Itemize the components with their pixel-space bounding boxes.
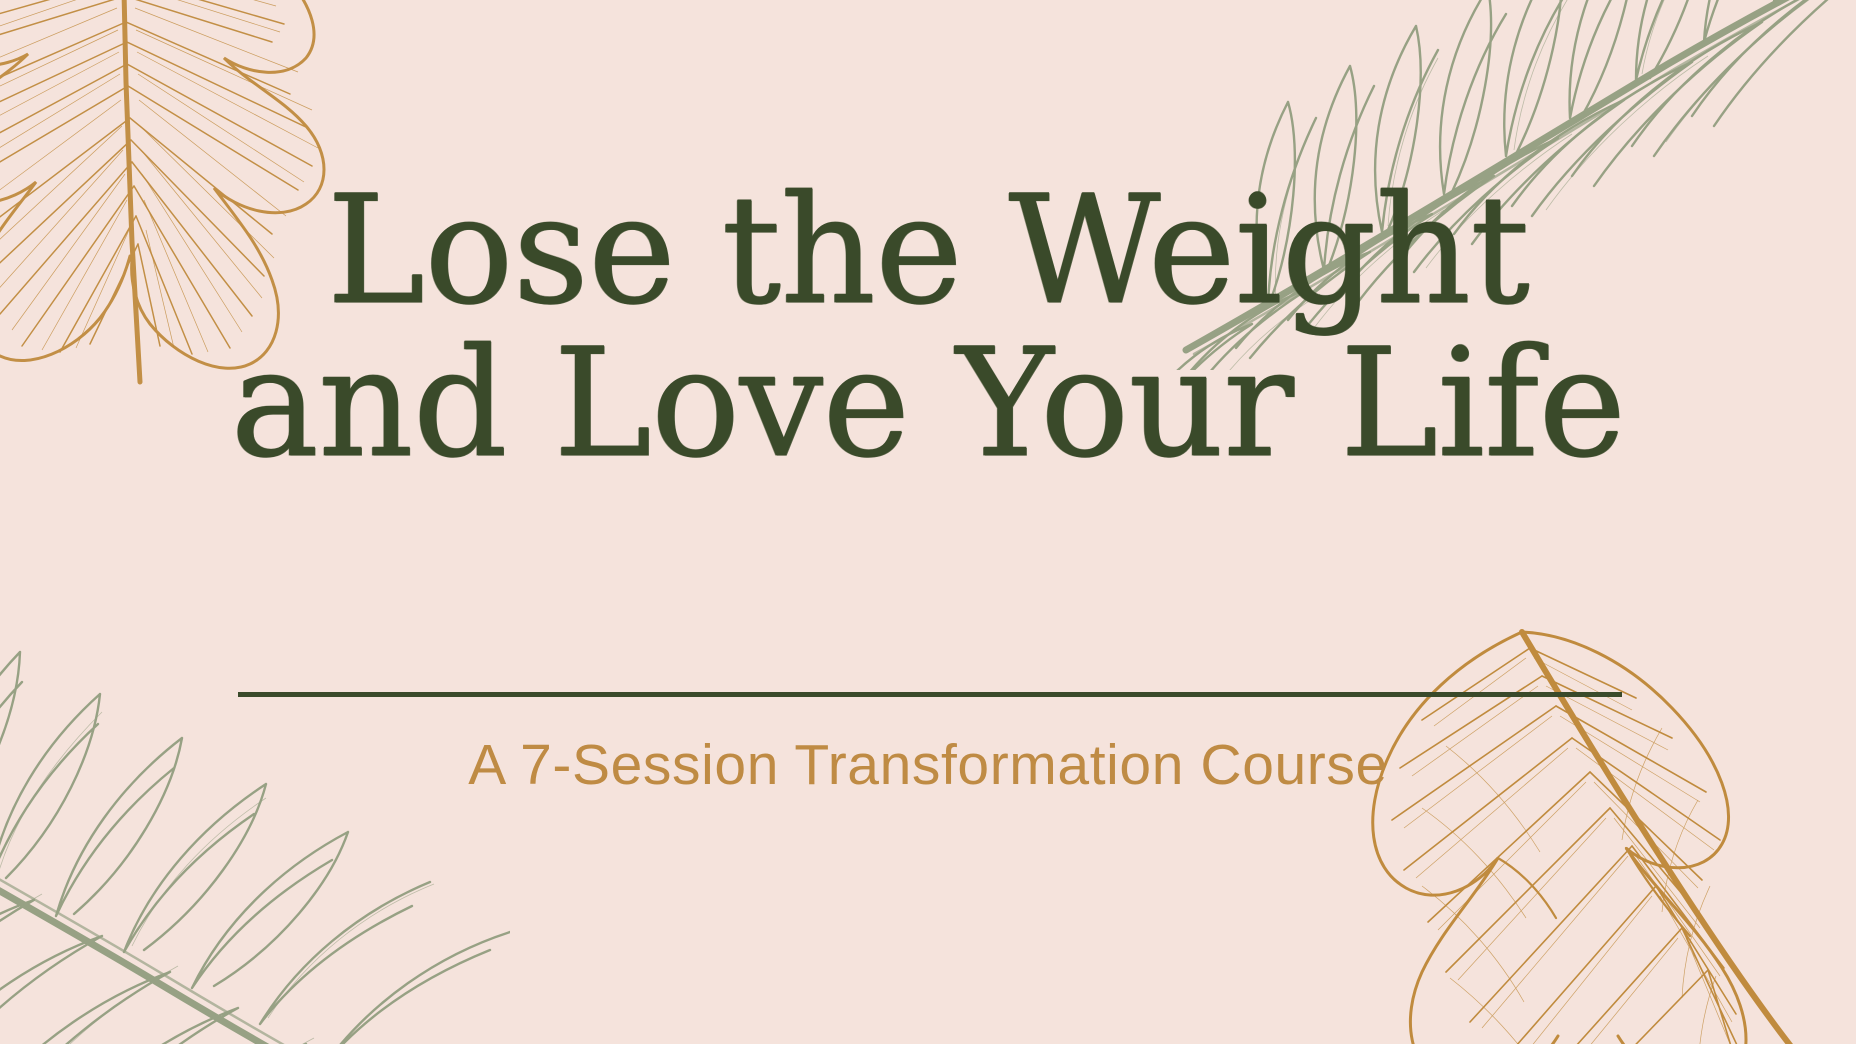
divider-rule xyxy=(238,692,1622,697)
page-title: Lose the Weight and Love Your Life xyxy=(0,172,1856,484)
title-line-2: and Love Your Life xyxy=(14,325,1842,484)
slide-canvas: Lose the Weight and Love Your Life A 7-S… xyxy=(0,0,1856,1044)
title-line-1: Lose the Weight xyxy=(14,172,1842,331)
slide-content: Lose the Weight and Love Your Life A 7-S… xyxy=(0,0,1856,1044)
subtitle: A 7-Session Transformation Course xyxy=(0,732,1856,798)
